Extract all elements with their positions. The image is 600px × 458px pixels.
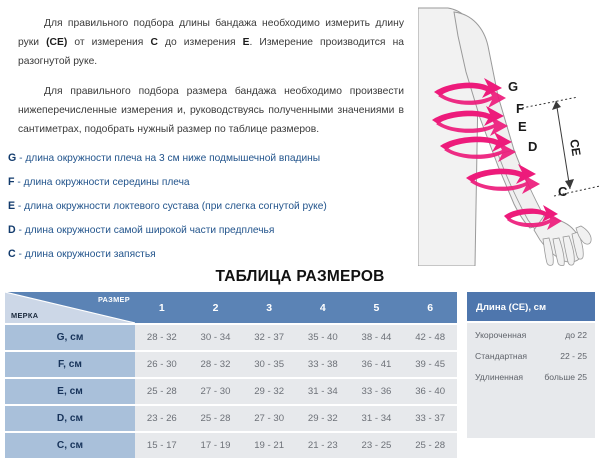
table-row: E, см 25 - 28 27 - 30 29 - 32 31 - 34 33… <box>5 378 457 405</box>
table-row: F, см 26 - 30 28 - 32 30 - 35 33 - 38 36… <box>5 351 457 378</box>
intro-p1-text-3: до измерения <box>158 37 243 48</box>
cell-g-3: 32 - 37 <box>242 324 296 351</box>
arm-measurement-diagram: G F E D C CE <box>418 0 600 266</box>
length-name-short: Укороченная <box>475 330 526 340</box>
diagram-label-e: E <box>518 119 527 134</box>
cell-d-2: 25 - 28 <box>189 405 243 432</box>
cell-d-5: 31 - 34 <box>350 405 404 432</box>
size-column-header-4: 4 <box>296 292 350 324</box>
length-row-short: Укороченная до 22 <box>467 324 595 345</box>
legend-item-g: G - длина окружности плеча на 3 см ниже … <box>8 146 408 170</box>
legend-text-c: длина окружности запястья <box>25 249 156 260</box>
cell-f-5: 36 - 41 <box>350 351 404 378</box>
intro-p1-bold-c: C <box>150 37 157 48</box>
cell-d-1: 23 - 26 <box>135 405 189 432</box>
size-table-header-row: РАЗМЕР МЕРКА 1 2 3 4 5 6 <box>5 292 457 324</box>
length-row-standard: Стандартная 22 - 25 <box>467 345 595 366</box>
cell-e-6: 36 - 40 <box>403 378 457 405</box>
size-column-header-6: 6 <box>403 292 457 324</box>
table-row: C, см 15 - 17 17 - 19 19 - 21 21 - 23 23… <box>5 432 457 458</box>
legend-item-e: E - длина окружности локтевого сустава (… <box>8 194 408 218</box>
intro-paragraph-2: Для правильного подбора размера бандажа … <box>18 71 404 139</box>
legend-text-d: длина окружности самой широкой части пре… <box>25 225 275 236</box>
intro-paragraph-1: Для правильного подбора длины бандажа не… <box>18 0 404 71</box>
row-label-g: G, см <box>5 324 135 351</box>
length-value-standard: 22 - 25 <box>560 351 587 361</box>
table-row: D, см 23 - 26 25 - 28 27 - 30 29 - 32 31… <box>5 405 457 432</box>
legend-dash-d: - <box>19 225 22 236</box>
intro-p1-bold-e: E <box>243 37 250 48</box>
cell-g-6: 42 - 48 <box>403 324 457 351</box>
cell-d-6: 33 - 37 <box>403 405 457 432</box>
cell-f-2: 28 - 32 <box>189 351 243 378</box>
legend-text-e: длина окружности локтевого сустава (при … <box>24 201 327 212</box>
corner-header-cell: РАЗМЕР МЕРКА <box>5 292 135 324</box>
row-label-d: D, см <box>5 405 135 432</box>
cell-c-6: 25 - 28 <box>403 432 457 458</box>
diagram-label-g: G <box>508 79 518 94</box>
size-column-header-5: 5 <box>350 292 404 324</box>
length-table-header: Длина (CE), см <box>467 292 595 323</box>
cell-f-3: 30 - 35 <box>242 351 296 378</box>
size-column-header-1: 1 <box>135 292 189 324</box>
cell-e-1: 25 - 28 <box>135 378 189 405</box>
length-table: Длина (CE), см Укороченная до 22 Стандар… <box>467 292 595 438</box>
legend-dash-c: - <box>19 249 22 260</box>
cell-e-4: 31 - 34 <box>296 378 350 405</box>
length-value-short: до 22 <box>565 330 587 340</box>
size-column-header-3: 3 <box>242 292 296 324</box>
corner-measure-label: МЕРКА <box>11 311 38 320</box>
cell-c-4: 21 - 23 <box>296 432 350 458</box>
cell-e-5: 33 - 36 <box>350 378 404 405</box>
row-label-c: C, см <box>5 432 135 458</box>
cell-c-1: 15 - 17 <box>135 432 189 458</box>
size-column-header-2: 2 <box>189 292 243 324</box>
legend-dash-e: - <box>18 201 21 212</box>
size-table: РАЗМЕР МЕРКА 1 2 3 4 5 6 G, см 28 - 32 3… <box>5 292 457 458</box>
instructions-panel: Для правильного подбора длины бандажа не… <box>0 0 418 258</box>
legend-text-g: длина окружности плеча на 3 см ниже подм… <box>25 153 320 164</box>
page-title: ТАБЛИЦА РАЗМЕРОВ <box>0 268 600 286</box>
legend-item-d: D - длина окружности самой широкой части… <box>8 219 408 243</box>
cell-g-5: 38 - 44 <box>350 324 404 351</box>
legend-dash-g: - <box>19 153 22 164</box>
intro-p1-text-2: от измерения <box>67 37 150 48</box>
measurement-legend: G - длина окружности плеча на 3 см ниже … <box>8 139 408 267</box>
corner-size-label: РАЗМЕР <box>98 295 130 304</box>
length-row-long: Удлиненная больше 25 <box>467 366 595 387</box>
diagram-label-f: F <box>516 101 524 116</box>
cell-f-4: 33 - 38 <box>296 351 350 378</box>
cell-d-4: 29 - 32 <box>296 405 350 432</box>
legend-dash-f: - <box>17 177 20 188</box>
intro-p1-bold-ce: (CE) <box>46 37 67 48</box>
table-row: G, см 28 - 32 30 - 34 32 - 37 35 - 40 38… <box>5 324 457 351</box>
cell-g-2: 30 - 34 <box>189 324 243 351</box>
legend-key-d: D <box>8 224 16 236</box>
diagram-label-d: D <box>528 139 537 154</box>
cell-g-4: 35 - 40 <box>296 324 350 351</box>
row-label-f: F, см <box>5 351 135 378</box>
cell-e-3: 29 - 32 <box>242 378 296 405</box>
diagram-label-c: C <box>558 184 568 199</box>
length-value-long: больше 25 <box>544 372 587 382</box>
legend-text-f: длина окружности середины плеча <box>24 177 190 188</box>
cell-g-1: 28 - 32 <box>135 324 189 351</box>
ce-dimension-label: CE <box>567 138 583 157</box>
length-name-standard: Стандартная <box>475 351 527 361</box>
cell-c-3: 19 - 21 <box>242 432 296 458</box>
cell-e-2: 27 - 30 <box>189 378 243 405</box>
ce-leader-top <box>522 97 578 108</box>
cell-f-1: 26 - 30 <box>135 351 189 378</box>
legend-item-f: F - длина окружности середины плеча <box>8 170 408 194</box>
legend-key-e: E <box>8 200 15 212</box>
cell-f-6: 39 - 45 <box>403 351 457 378</box>
length-name-long: Удлиненная <box>475 372 523 382</box>
legend-key-f: F <box>8 176 14 188</box>
cell-c-5: 23 - 25 <box>350 432 404 458</box>
cell-c-2: 17 - 19 <box>189 432 243 458</box>
legend-key-g: G <box>8 152 16 164</box>
cell-d-3: 27 - 30 <box>242 405 296 432</box>
row-label-e: E, см <box>5 378 135 405</box>
legend-key-c: C <box>8 248 16 260</box>
legend-item-c: C - длина окружности запястья <box>8 243 408 267</box>
